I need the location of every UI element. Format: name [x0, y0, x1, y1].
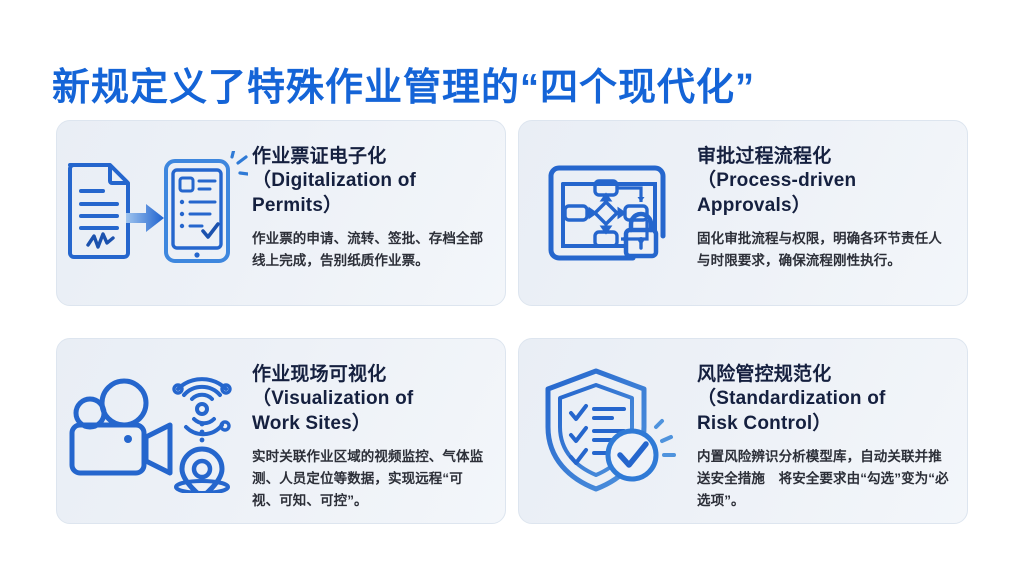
card-title: 风险管控规范化 （Standardization of Risk Control… — [697, 363, 949, 436]
card-title-en-line2: Approvals） — [697, 194, 949, 218]
card-title: 作业现场可视化 （Visualization of Work Sites） — [252, 363, 487, 436]
card-description: 固化审批流程与权限，明确各环节责任人与时限要求，确保流程刚性执行。 — [697, 228, 949, 272]
document-to-tablet-icon — [57, 121, 252, 305]
card-title: 作业票证电子化 （Digitalization of Permits） — [252, 145, 487, 218]
flowchart-lock-icon — [519, 121, 697, 305]
card-visualization-of-work-sites[interactable]: 作业现场可视化 （Visualization of Work Sites） 实时… — [56, 338, 506, 524]
card-body: 作业现场可视化 （Visualization of Work Sites） 实时… — [252, 339, 505, 512]
card-title-en-line1: （Process-driven — [697, 169, 949, 193]
card-description: 内置风险辨识分析模型库，自动关联并推送安全措施 将安全要求由“勾选”变为“必选项… — [697, 446, 949, 512]
card-process-driven-approvals[interactable]: 审批过程流程化 （Process-driven Approvals） 固化审批流… — [518, 120, 968, 306]
feature-card-grid: 作业票证电子化 （Digitalization of Permits） 作业票的… — [56, 120, 968, 524]
card-title-en-line1: （Visualization of — [252, 387, 487, 411]
card-title-cn: 风险管控规范化 — [697, 363, 949, 387]
card-description: 作业票的申请、流转、签批、存档全部线上完成，告别纸质作业票。 — [252, 228, 487, 272]
card-title: 审批过程流程化 （Process-driven Approvals） — [697, 145, 949, 218]
card-title-en-line2: Risk Control） — [697, 412, 949, 436]
card-title-en-line1: （Standardization of — [697, 387, 949, 411]
card-title-cn: 作业票证电子化 — [252, 145, 487, 169]
shield-checklist-icon — [519, 339, 697, 523]
card-description: 实时关联作业区域的视频监控、气体监测、人员定位等数据，实现远程“可视、可知、可控… — [252, 446, 487, 512]
card-title-en-line1: （Digitalization of — [252, 169, 487, 193]
card-title-cn: 审批过程流程化 — [697, 145, 949, 169]
card-standardization-of-risk-control[interactable]: 风险管控规范化 （Standardization of Risk Control… — [518, 338, 968, 524]
card-title-cn: 作业现场可视化 — [252, 363, 487, 387]
card-body: 作业票证电子化 （Digitalization of Permits） 作业票的… — [252, 121, 505, 272]
camera-signal-location-icon — [57, 339, 252, 523]
card-body: 风险管控规范化 （Standardization of Risk Control… — [697, 339, 967, 512]
card-digitalization-of-permits[interactable]: 作业票证电子化 （Digitalization of Permits） 作业票的… — [56, 120, 506, 306]
card-body: 审批过程流程化 （Process-driven Approvals） 固化审批流… — [697, 121, 967, 272]
page-title: 新规定义了特殊作业管理的“四个现代化” — [52, 67, 755, 111]
card-title-en-line2: Permits） — [252, 194, 487, 218]
card-title-en-line2: Work Sites） — [252, 412, 487, 436]
